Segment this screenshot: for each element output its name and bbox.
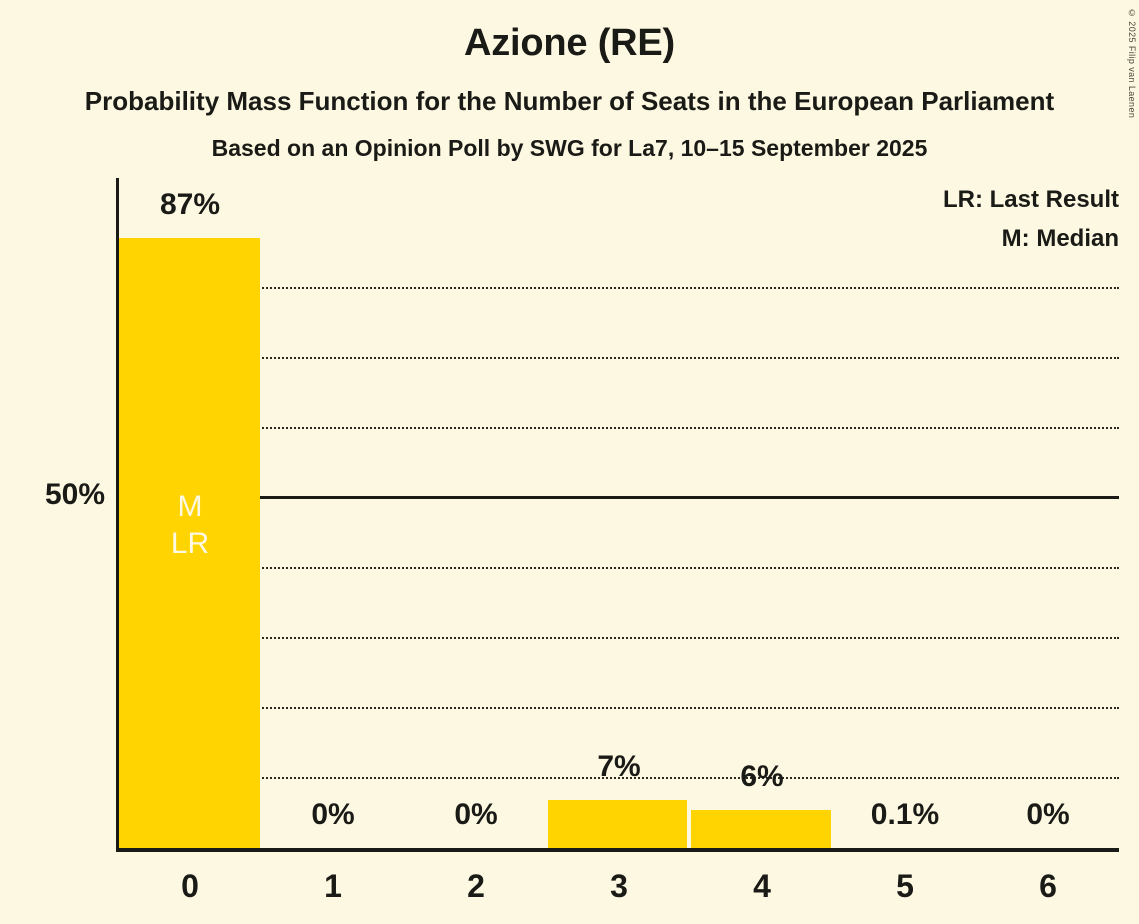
chart-subtitle-source: Based on an Opinion Poll by SWG for La7,…: [0, 135, 1139, 162]
x-tick-6: 6: [978, 868, 1118, 905]
median-marker-label: M: [120, 490, 260, 524]
value-label-seats-6: 0%: [978, 798, 1118, 832]
chart-subtitle: Probability Mass Function for the Number…: [0, 86, 1139, 117]
bar-seats-4: [691, 810, 831, 848]
gridline-major-50: [119, 496, 1119, 499]
x-tick-5: 5: [835, 868, 975, 905]
value-label-seats-4: 6%: [692, 760, 832, 794]
value-label-seats-0: 87%: [120, 188, 260, 222]
gridline: [119, 567, 1119, 569]
bar-seats-3: [548, 800, 687, 848]
value-label-seats-3: 7%: [549, 750, 689, 784]
x-axis-line: [116, 848, 1119, 852]
value-label-seats-5: 0.1%: [835, 798, 975, 832]
last-result-marker-label: LR: [120, 527, 260, 561]
x-tick-1: 1: [263, 868, 403, 905]
x-tick-3: 3: [549, 868, 689, 905]
x-tick-4: 4: [692, 868, 832, 905]
copyright-notice: © 2025 Filip van Laenen: [1127, 8, 1137, 118]
value-label-seats-2: 0%: [406, 798, 546, 832]
gridline: [119, 357, 1119, 359]
legend-last-result: LR: Last Result: [943, 186, 1119, 214]
gridline: [119, 287, 1119, 289]
chart-page: Azione (RE) Probability Mass Function fo…: [0, 0, 1139, 924]
gridline: [119, 707, 1119, 709]
page-title: Azione (RE): [0, 22, 1139, 65]
legend-median: M: Median: [1002, 225, 1119, 253]
y-axis-tick-label-50: 50%: [0, 478, 105, 512]
gridline: [119, 637, 1119, 639]
gridline: [119, 427, 1119, 429]
value-label-seats-1: 0%: [263, 798, 403, 832]
x-tick-2: 2: [406, 868, 546, 905]
x-tick-0: 0: [120, 868, 260, 905]
